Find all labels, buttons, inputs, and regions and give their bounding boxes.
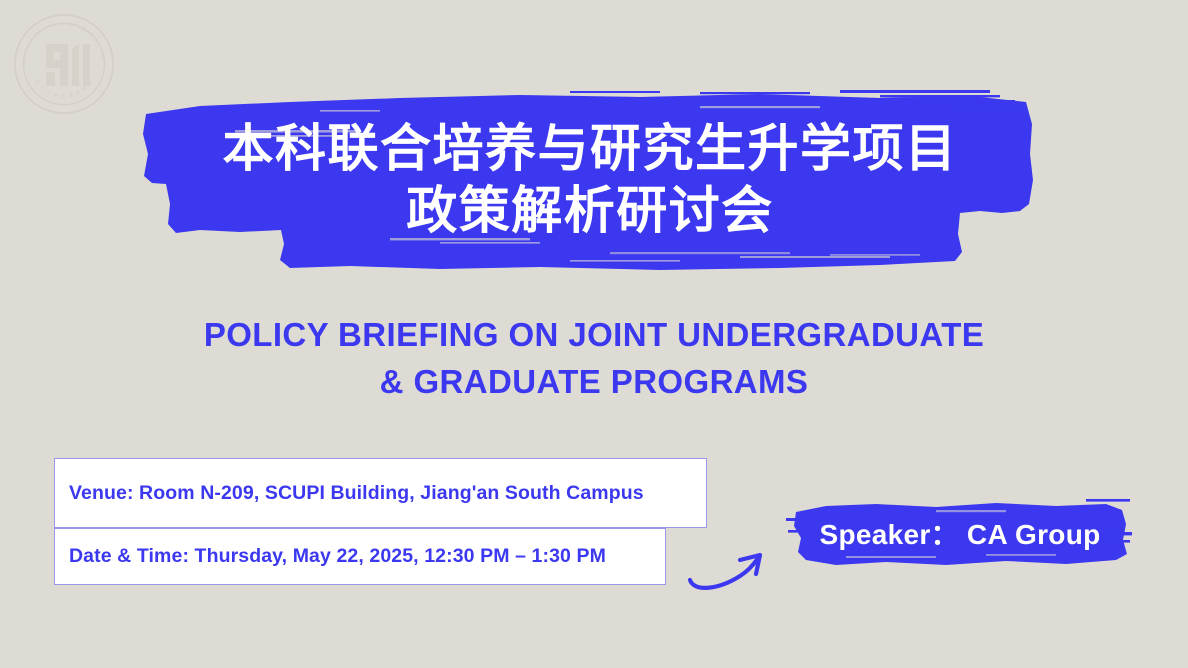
subtitle-line-1: POLICY BRIEFING ON JOINT UNDERGRADUATE xyxy=(0,312,1188,359)
datetime-text: Date & Time: Thursday, May 22, 2025, 12:… xyxy=(69,545,606,568)
title-line-1: 本科联合培养与研究生升学项目 xyxy=(222,119,957,179)
poster-canvas: SICHUAN UNIVERSITY PITTSBURGH INSTITUTE … xyxy=(0,0,1188,668)
subtitle-line-2: & GRADUATE PROGRAMS xyxy=(0,359,1188,406)
title-banner: 本科联合培养与研究生升学项目 政策解析研讨会 xyxy=(140,84,1040,276)
venue-info-box: Venue: Room N-209, SCUPI Building, Jiang… xyxy=(54,458,707,528)
logo-mark-icon: SICHUAN UNIVERSITY PITTSBURGH INSTITUTE … xyxy=(8,8,120,120)
title-line-2: 政策解析研讨会 xyxy=(406,181,774,241)
poster-subtitle: POLICY BRIEFING ON JOINT UNDERGRADUATE &… xyxy=(0,312,1188,406)
speaker-label: Speaker： CA Group xyxy=(786,496,1134,572)
curved-arrow-icon xyxy=(684,540,780,596)
datetime-info-box: Date & Time: Thursday, May 22, 2025, 12:… xyxy=(54,528,666,585)
poster-title: 本科联合培养与研究生升学项目 政策解析研讨会 xyxy=(140,84,1040,276)
institute-logo: SICHUAN UNIVERSITY PITTSBURGH INSTITUTE … xyxy=(8,8,120,120)
venue-text: Venue: Room N-209, SCUPI Building, Jiang… xyxy=(69,482,644,505)
speaker-banner: Speaker： CA Group xyxy=(786,496,1134,572)
